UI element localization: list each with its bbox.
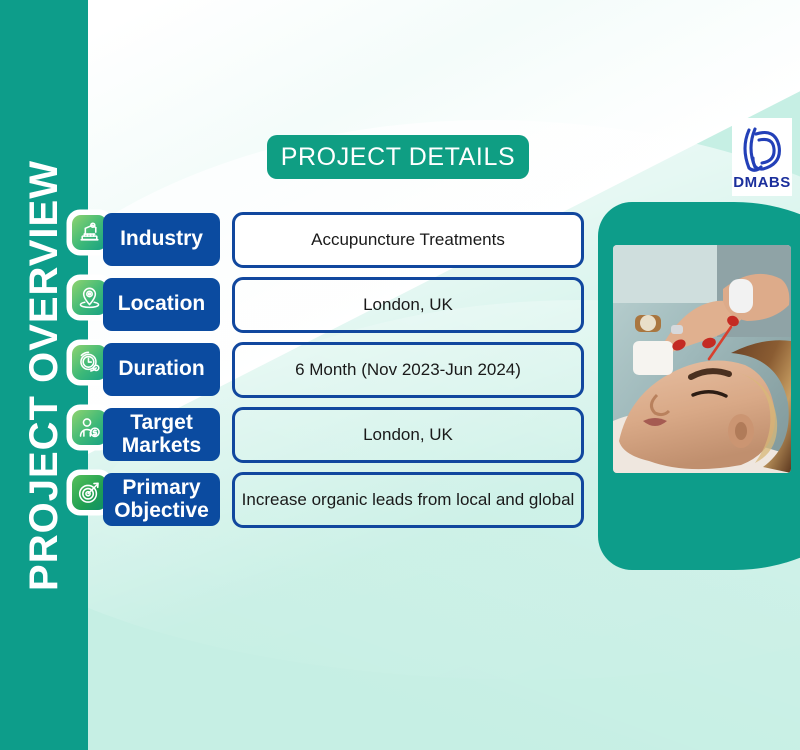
- detail-value-duration: 6 Month (Nov 2023-Jun 2024): [232, 342, 584, 398]
- infographic-canvas: DMABS PROJECT OVERVIEW PROJECT DETAILS: [0, 0, 800, 750]
- detail-value-industry: Accupuncture Treatments: [232, 212, 584, 268]
- detail-label-industry: Industry: [103, 213, 220, 266]
- detail-label-target-markets: Target Markets: [103, 408, 220, 461]
- detail-value-primary-objective: Increase organic leads from local and gl…: [232, 472, 584, 528]
- details-list: Industry Accupuncture Treatments Locatio…: [0, 0, 800, 750]
- detail-label-duration: Duration: [103, 343, 220, 396]
- detail-value-target-markets: London, UK: [232, 407, 584, 463]
- detail-value-location: London, UK: [232, 277, 584, 333]
- detail-label-primary-objective: Primary Objective: [103, 473, 220, 526]
- detail-label-location: Location: [103, 278, 220, 331]
